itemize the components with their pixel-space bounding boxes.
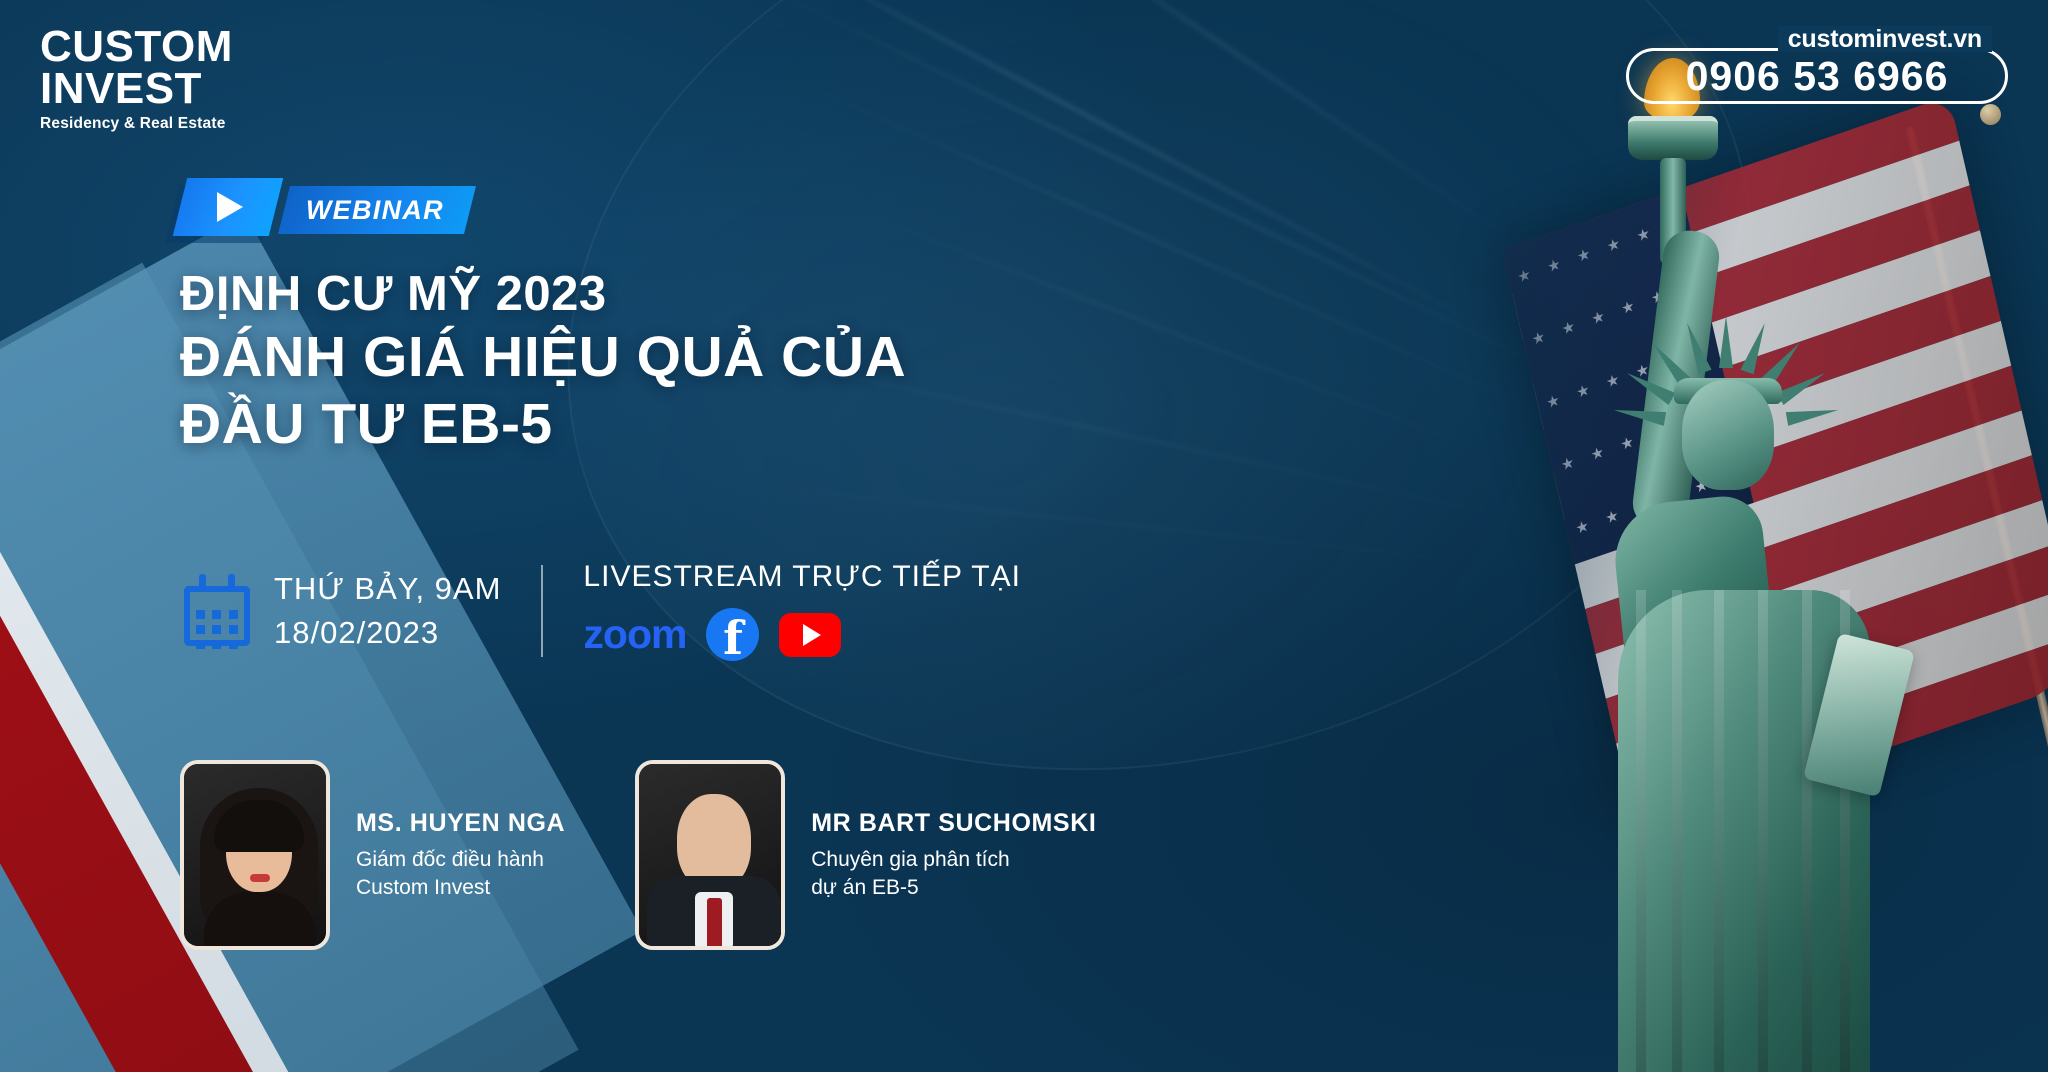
avatar-lips (250, 874, 270, 882)
phone-number[interactable]: 0906 53 6966 (1626, 53, 2008, 100)
website-link[interactable]: custominvest.vn (1778, 26, 1992, 52)
livestream-block: LIVESTREAM TRỰC TIẾP TẠI zoom f (583, 560, 1021, 661)
speaker-name: MR BART SUCHOMSKI (811, 809, 1096, 838)
logo-tagline: Residency & Real Estate (40, 115, 233, 133)
calendar-dots (196, 610, 238, 649)
event-date: 18/02/2023 (274, 615, 501, 651)
speaker-role-line-1: Chuyên gia phân tích (811, 846, 1096, 874)
hero-artwork: ★★★★★★★★★★★★★★★★★★★★★★★★★★★★★★ (1268, 0, 2048, 1072)
play-icon (173, 178, 283, 236)
torch-cup (1628, 116, 1718, 160)
avatar-tie (707, 898, 722, 950)
webinar-badge: WEBINAR (180, 178, 470, 236)
brand-logo[interactable]: CUSTOM INVEST Residency & Real Estate (40, 26, 233, 133)
page-title: ĐỊNH CƯ MỸ 2023 ĐÁNH GIÁ HIỆU QUẢ CỦA ĐẦ… (180, 268, 906, 455)
headline-line-2: ĐÁNH GIÁ HIỆU QUẢ CỦA (180, 326, 906, 389)
speaker-role: Giám đốc điều hành Custom Invest (356, 846, 565, 901)
speakers-list: MS. HUYEN NGA Giám đốc điều hành Custom … (180, 760, 1096, 950)
event-date-block: THỨ BẢY, 9AM 18/02/2023 (274, 571, 501, 651)
speaker-card: MR BART SUCHOMSKI Chuyên gia phân tích d… (635, 760, 1096, 950)
statue-head (1682, 380, 1774, 490)
speaker-name: MS. HUYEN NGA (356, 809, 565, 838)
livestream-title: LIVESTREAM TRỰC TIẾP TẠI (583, 560, 1021, 594)
avatar-shoulders (204, 892, 316, 950)
facebook-glyph: f (723, 617, 743, 661)
avatar (635, 760, 785, 950)
statue-of-liberty-icon (1468, 30, 1888, 1072)
speaker-role-line-2: dự án EB-5 (811, 874, 1096, 902)
zoom-icon[interactable]: zoom (583, 614, 686, 655)
event-day-time: THỨ BẢY, 9AM (274, 571, 501, 607)
speaker-text: MR BART SUCHOMSKI Chuyên gia phân tích d… (811, 809, 1096, 901)
event-info: THỨ BẢY, 9AM 18/02/2023 LIVESTREAM TRỰC … (180, 560, 1021, 661)
webinar-label-plate: WEBINAR (278, 186, 476, 234)
webinar-label: WEBINAR (306, 195, 444, 226)
speaker-text: MS. HUYEN NGA Giám đốc điều hành Custom … (356, 809, 565, 901)
headline-line-1: ĐỊNH CƯ MỸ 2023 (180, 268, 906, 322)
logo-line-custom: CUSTOM (40, 26, 233, 68)
contact-badge[interactable]: custominvest.vn 0906 53 6966 (1626, 26, 2008, 104)
flagpole-finial (1980, 104, 2001, 125)
calendar-header-bar (184, 586, 250, 603)
headline-line-3: ĐẦU TƯ EB-5 (180, 393, 906, 456)
logo-line-invest: INVEST (40, 68, 233, 110)
calendar-icon (180, 574, 254, 648)
youtube-icon[interactable] (779, 613, 841, 657)
facebook-icon[interactable]: f (706, 608, 759, 661)
speaker-role: Chuyên gia phân tích dự án EB-5 (811, 846, 1096, 901)
speaker-role-line-2: Custom Invest (356, 874, 565, 902)
banner-stage: ★★★★★★★★★★★★★★★★★★★★★★★★★★★★★★ CUSTOM IN… (0, 0, 2048, 1072)
speaker-card: MS. HUYEN NGA Giám đốc điều hành Custom … (180, 760, 565, 950)
avatar (180, 760, 330, 950)
vertical-divider (541, 565, 543, 657)
platform-icons: zoom f (583, 608, 1021, 661)
speaker-role-line-1: Giám đốc điều hành (356, 846, 565, 874)
